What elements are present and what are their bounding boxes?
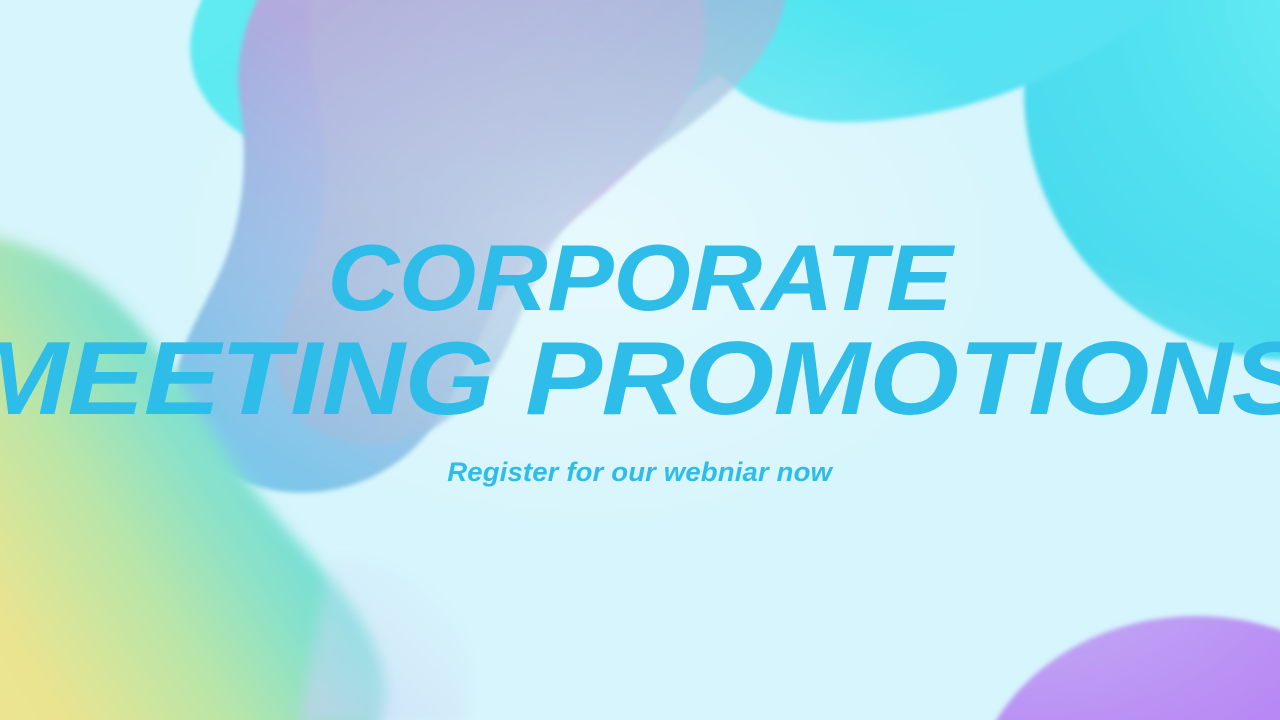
promo-slide: CORPORATE MEETING PROMOTIONS Register fo… — [0, 0, 1280, 720]
subtitle-text: Register for our webniar now — [448, 457, 833, 488]
headline-line-1: CORPORATE — [328, 232, 953, 324]
headline-line-2: MEETING PROMOTIONS — [0, 329, 1280, 431]
slide-content: CORPORATE MEETING PROMOTIONS Register fo… — [0, 0, 1280, 720]
